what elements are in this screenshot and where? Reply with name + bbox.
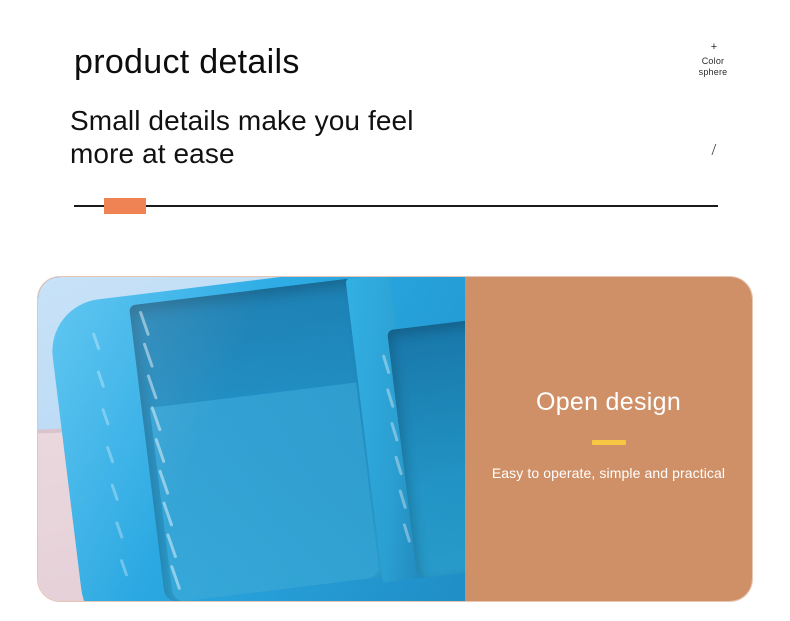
- divider-line: [74, 205, 718, 207]
- caption-title: Open design: [465, 387, 752, 417]
- header-divider: [74, 198, 720, 216]
- page-subtitle-line-1: Small details make you feel: [70, 104, 490, 137]
- plus-icon: +: [700, 42, 728, 53]
- silicone-lunch-box: [38, 277, 465, 601]
- slash-mark: /: [700, 140, 728, 160]
- page-subtitle: Small details make you feel more at ease: [70, 104, 490, 170]
- product-card-inner: Open design Easy to operate, simple and …: [38, 277, 752, 601]
- product-caption-panel: Open design Easy to operate, simple and …: [465, 277, 752, 601]
- product-photo: [38, 277, 465, 601]
- page-title: product details: [74, 42, 300, 82]
- caption-rule: [592, 440, 626, 445]
- page-header: product details Small details make you f…: [0, 0, 790, 230]
- page-subtitle-line-2: more at ease: [70, 137, 490, 170]
- product-card: Open design Easy to operate, simple and …: [38, 277, 752, 601]
- box-rim-highlight: [46, 277, 465, 601]
- corner-label-line-1: Color: [680, 56, 746, 67]
- corner-label: Color sphere: [680, 56, 746, 78]
- divider-accent-bar: [104, 198, 146, 214]
- corner-label-line-2: sphere: [680, 67, 746, 78]
- caption-subtitle: Easy to operate, simple and practical: [465, 463, 752, 483]
